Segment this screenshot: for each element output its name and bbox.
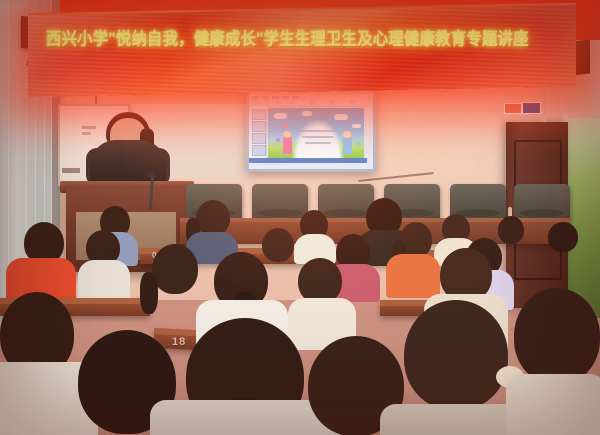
front-chair <box>252 184 308 222</box>
student-body-foreground <box>506 374 600 435</box>
open-doorway-outside <box>566 118 600 318</box>
student-head <box>196 200 230 236</box>
banner-sheen <box>28 5 576 98</box>
microphone-icon <box>147 170 155 178</box>
whiteboard-tray <box>62 168 80 173</box>
student-body <box>78 260 130 302</box>
student-head-foreground <box>514 288 600 384</box>
student-head <box>548 222 578 252</box>
whiteboard-mark <box>82 126 96 129</box>
whiteboard-mark <box>82 132 91 135</box>
banner-title-text: 西兴小学"悦纳自我，健康成长"学生生理卫生及心理健康教育专题讲座 <box>46 26 516 51</box>
student-head <box>262 228 294 262</box>
student-head-foreground <box>404 300 508 410</box>
seat-tag: 18 <box>172 336 186 348</box>
student-head <box>152 244 198 294</box>
student-body <box>386 254 440 298</box>
front-chair <box>514 184 570 222</box>
student-head <box>498 216 524 244</box>
photo-scene: 04 20 06 18 <box>0 0 600 435</box>
